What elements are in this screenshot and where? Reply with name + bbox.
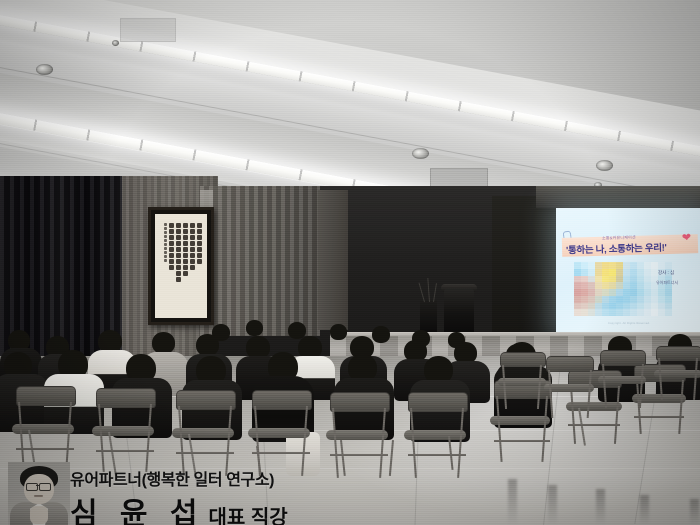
photo-canvas: 소통&커뮤니케이션 '통하는 나, 소통하는 우리!' ❤ 강사 : 심 유어파… [0,0,700,525]
overlay-org-line: 유어파트너(행복한 일터 연구소) [70,466,274,490]
slide-speaker-line: 강사 : 심 [658,270,674,276]
downlight-icon [36,64,53,75]
speaker-portrait [8,462,70,525]
downlight-icon [596,160,613,171]
overlay-speaker-line: 심 윤 섭대표 직강 [70,489,288,525]
heart-icon: ❤ [681,231,692,245]
frame-mat [155,214,207,318]
downlight-icon [412,148,429,159]
slide-footer: Copyright. All Rights Reserved. [608,322,650,325]
framed-calligraphy [148,207,214,325]
screen-valance [536,186,700,208]
downlight-icon [112,40,119,46]
projection-screen: 소통&커뮤니케이션 '통하는 나, 소통하는 우리!' ❤ 강사 : 심 유어파… [556,208,700,334]
calligraphy-column [197,221,202,311]
glasses-icon [39,483,51,491]
wall-panel-right [318,190,348,330]
overlay-speaker-role: 대표 직강 [208,507,287,525]
calligraphy-columns [160,221,202,311]
calligraphy-column [190,221,195,311]
slide-title: '통하는 나, 소통하는 우리!' [566,240,667,257]
ceiling-vent [120,18,176,42]
calligraphy-signature-column [164,221,167,311]
overlay-speaker-name: 심 윤 섭 [70,498,204,525]
podium [444,288,474,334]
calligraphy-column [169,221,174,311]
slide-org-line: 유어파트너서 [656,280,678,286]
calligraphy-column [176,221,181,311]
calligraphy-column [183,221,188,311]
plant-pot [420,300,437,332]
wood-slat-wall-mid [200,186,320,336]
